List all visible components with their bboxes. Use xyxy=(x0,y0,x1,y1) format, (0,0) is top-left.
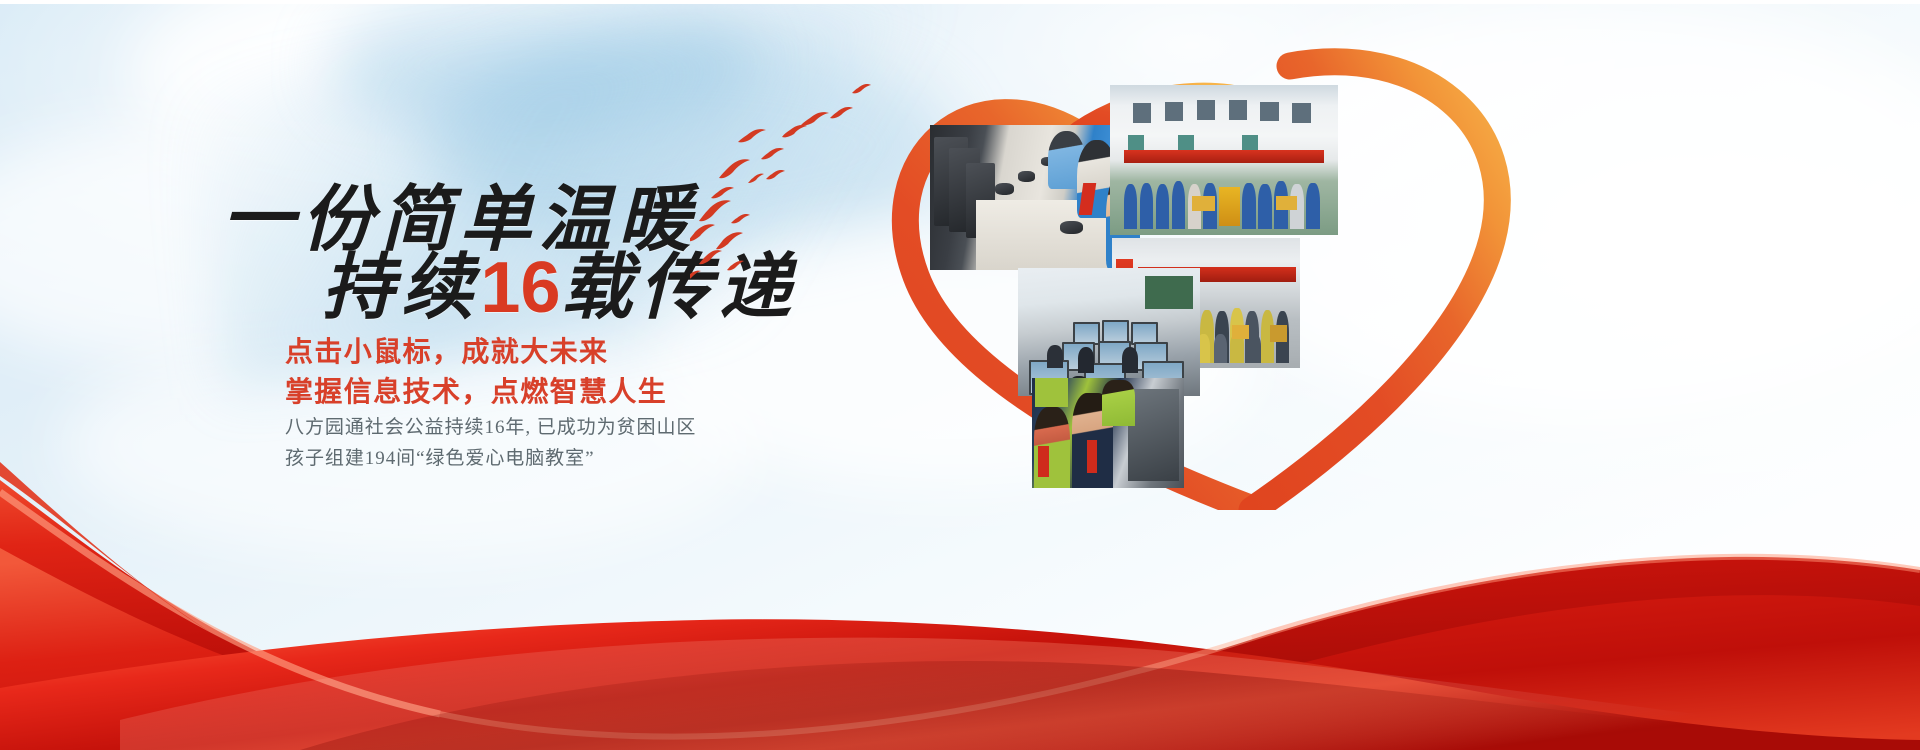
photo-students-at-computers xyxy=(930,125,1140,270)
headline-line-2-prefix: 持续 xyxy=(322,248,480,328)
subtitle-line-1: 点击小鼠标，成就大未来 xyxy=(285,330,608,370)
charity-banner: 一份简单温暖 持续16载传递 点击小鼠标，成就大未来 掌握信息技术，点燃智慧人生… xyxy=(0,0,1920,750)
subtitle-line-2: 掌握信息技术，点燃智慧人生 xyxy=(285,370,667,410)
headline-years-number: 16 xyxy=(480,248,560,328)
red-silk-ribbon-icon xyxy=(0,420,1920,750)
photo-donation-ceremony-school xyxy=(1110,85,1338,235)
photo-classroom-overview xyxy=(1018,268,1200,396)
